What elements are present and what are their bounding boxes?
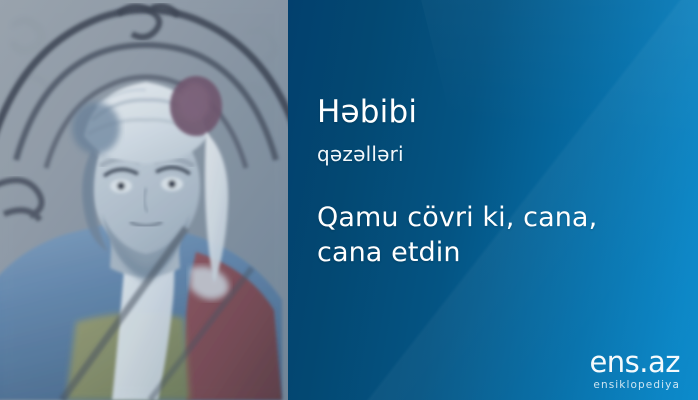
logo-wordmark: ens.az <box>558 348 680 377</box>
heading-block: Həbibi qəzəlləri Qamu cövri ki, cana, ca… <box>317 96 677 270</box>
ens-az-logo[interactable]: ens.az ensiklopediya <box>558 348 680 391</box>
author-subtitle: qəzəlləri <box>317 143 677 165</box>
logo-tagline: ensiklopediya <box>558 380 680 391</box>
title-panel: Həbibi qəzəlləri Qamu cövri ki, cana, ca… <box>288 0 698 400</box>
article-banner-card: Həbibi qəzəlləri Qamu cövri ki, cana, ca… <box>0 0 698 400</box>
author-name: Həbibi <box>317 96 677 129</box>
work-title: Qamu cövri ki, cana, cana etdin <box>317 200 617 270</box>
artwork-image <box>0 0 288 400</box>
